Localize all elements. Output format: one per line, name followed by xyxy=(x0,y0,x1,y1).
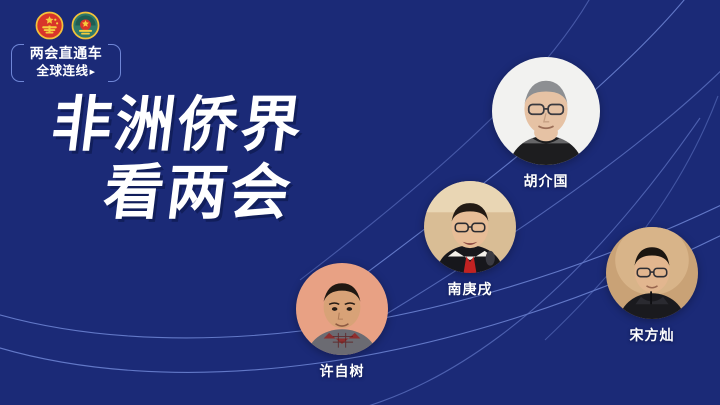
portrait-name: 宋方灿 xyxy=(606,325,698,345)
cppcc-emblem-icon xyxy=(71,11,100,40)
program-logo: 两会直通车 全球连线▶ xyxy=(10,10,122,83)
page-title: 非洲侨界 看两会 xyxy=(52,92,304,226)
emblem-row xyxy=(12,10,122,40)
headline-line-2: 看两会 xyxy=(100,160,308,226)
logo-title-secondary: 全球连线▶ xyxy=(10,63,122,81)
avatar xyxy=(424,181,516,273)
headline-line-1: 非洲侨界 xyxy=(48,92,308,158)
avatar xyxy=(492,57,600,165)
portrait-card[interactable]: 南庚戌 xyxy=(424,181,516,299)
poster-canvas: 两会直通车 全球连线▶ 非洲侨界 看两会 胡介国 xyxy=(0,0,720,405)
avatar xyxy=(296,263,388,355)
portrait-name: 许自树 xyxy=(296,361,388,381)
logo-title-primary: 两会直通车 xyxy=(10,45,122,62)
avatar xyxy=(606,227,698,319)
logo-plate: 两会直通车 全球连线▶ xyxy=(10,43,122,83)
portrait-card[interactable]: 许自树 xyxy=(296,263,388,381)
play-marker-icon: ▶ xyxy=(90,69,96,76)
logo-subtitle-text: 全球连线 xyxy=(37,64,89,78)
portrait-card[interactable]: 胡介国 xyxy=(492,57,600,191)
portrait-card[interactable]: 宋方灿 xyxy=(606,227,698,345)
portrait-name: 南庚戌 xyxy=(424,279,516,299)
national-emblem-icon xyxy=(35,11,64,40)
